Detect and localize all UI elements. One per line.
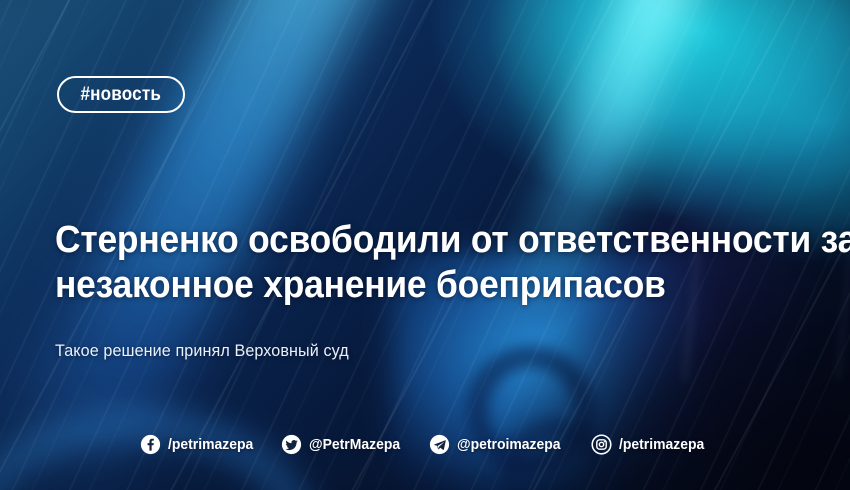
social-link-facebook[interactable]: /petrimazepa xyxy=(140,434,260,455)
facebook-icon xyxy=(140,434,161,455)
headline-line-2: незаконное хранение боеприпасов xyxy=(55,263,725,308)
social-handle-facebook: /petrimazepa xyxy=(168,436,253,453)
social-link-telegram[interactable]: @petroimazepa xyxy=(429,434,568,455)
social-handle-telegram: @petroimazepa xyxy=(457,436,561,453)
social-bar: /petrimazepa @PetrMazepa xyxy=(0,434,850,455)
news-card: #новость Стерненко освободили от ответст… xyxy=(0,0,850,490)
instagram-icon xyxy=(591,434,612,455)
hashtag-badge-label: #новость xyxy=(80,84,161,106)
headline-line-1: Стерненко освободили от ответственности … xyxy=(55,218,725,263)
subtitle-text: Такое решение принял Верховный суд xyxy=(55,341,349,361)
twitter-icon xyxy=(281,434,302,455)
social-link-instagram[interactable]: /petrimazepa xyxy=(591,434,711,455)
social-handle-twitter: @PetrMazepa xyxy=(309,436,400,453)
subtitle: Такое решение принял Верховный суд xyxy=(55,341,364,361)
headline: Стерненко освободили от ответственности … xyxy=(55,218,775,308)
social-link-twitter[interactable]: @PetrMazepa xyxy=(281,434,407,455)
telegram-icon xyxy=(429,434,450,455)
social-handle-instagram: /petrimazepa xyxy=(619,436,704,453)
card-content: #новость Стерненко освободили от ответст… xyxy=(0,0,850,490)
hashtag-badge[interactable]: #новость xyxy=(57,76,185,113)
